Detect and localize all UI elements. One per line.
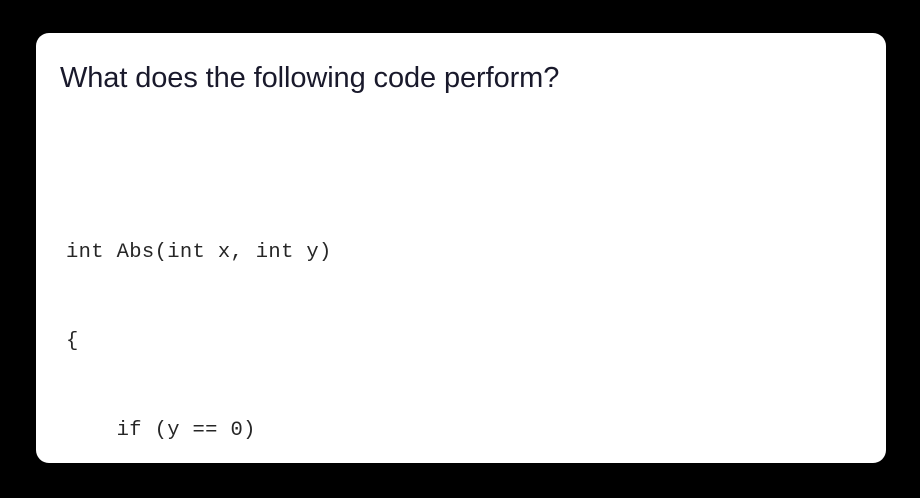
code-line: int Abs(int x, int y) (66, 238, 686, 268)
screen-root: What does the following code perform? in… (0, 0, 920, 498)
code-snippet: int Abs(int x, int y) { if (y == 0) retu… (66, 178, 686, 463)
code-line: if (y == 0) (66, 416, 686, 446)
page-title: What does the following code perform? (60, 61, 559, 96)
code-line: { (66, 327, 686, 357)
question-card: What does the following code perform? in… (36, 33, 886, 463)
